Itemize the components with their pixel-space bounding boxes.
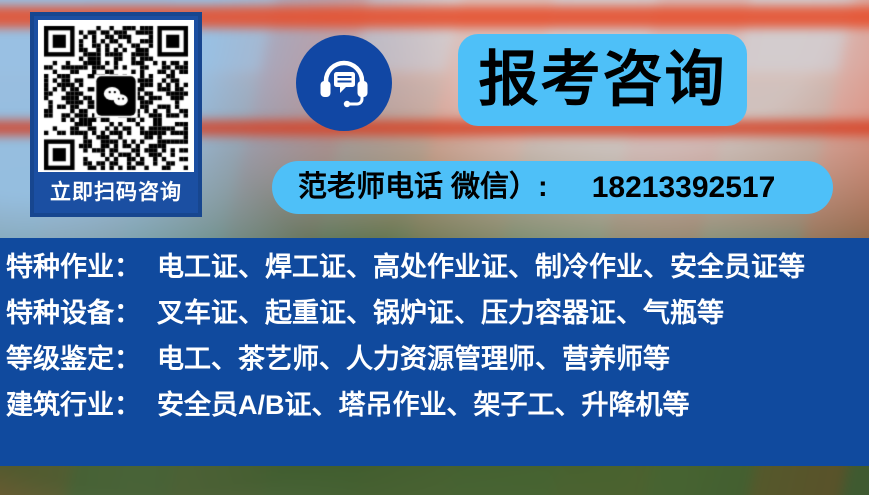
category-items: 安全员A/B证、塔吊作业、架子工、升降机等 bbox=[157, 392, 690, 419]
qr-card-caption: 立即扫码咨询 bbox=[50, 172, 182, 213]
promo-poster: 立即扫码咨询 报考咨询 范老师电话 微信）: 18213392517 特种作业：… bbox=[0, 0, 869, 495]
category-items: 叉车证、起重证、锅炉证、压力容器证、气瓶等 bbox=[157, 300, 724, 327]
category-row: 建筑行业： 安全员A/B证、塔吊作业、架子工、升降机等 bbox=[6, 392, 869, 438]
qr-code-canvas bbox=[38, 20, 194, 172]
contact-phone-number[interactable]: 18213392517 bbox=[592, 173, 776, 203]
headset-support-icon bbox=[296, 35, 392, 131]
certificate-categories-panel: 特种作业： 电工证、焊工证、高处作业证、制冷作业、安全员证等 特种设备： 叉车证… bbox=[0, 238, 869, 466]
category-row: 特种设备： 叉车证、起重证、锅炉证、压力容器证、气瓶等 bbox=[6, 300, 869, 346]
category-name: 特种设备： bbox=[6, 300, 141, 327]
category-name: 特种作业： bbox=[6, 254, 141, 281]
category-items: 电工、茶艺师、人力资源管理师、营养师等 bbox=[157, 346, 670, 373]
category-name: 建筑行业： bbox=[6, 392, 141, 419]
qr-code-card[interactable]: 立即扫码咨询 bbox=[30, 12, 202, 217]
title-badge: 报考咨询 bbox=[458, 34, 747, 126]
contact-label: 范老师电话 微信）: bbox=[298, 173, 548, 202]
qr-code-image bbox=[38, 20, 194, 172]
page-title: 报考咨询 bbox=[479, 50, 727, 110]
category-row: 等级鉴定： 电工、茶艺师、人力资源管理师、营养师等 bbox=[6, 346, 869, 392]
contact-badge[interactable]: 范老师电话 微信）: 18213392517 bbox=[272, 161, 833, 214]
category-name: 等级鉴定： bbox=[6, 346, 141, 373]
category-row: 特种作业： 电工证、焊工证、高处作业证、制冷作业、安全员证等 bbox=[6, 254, 869, 300]
category-items: 电工证、焊工证、高处作业证、制冷作业、安全员证等 bbox=[157, 254, 805, 281]
